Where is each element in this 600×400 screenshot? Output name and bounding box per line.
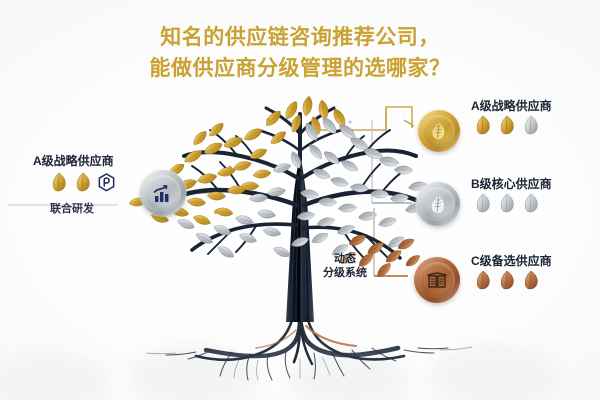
- leaf-icon-gold: [474, 115, 492, 136]
- leaf-icon-bronze: [474, 270, 492, 291]
- leaf-emblem-icon: [428, 120, 450, 142]
- left-panel-title: A级战略供应商: [33, 152, 114, 169]
- leaf-icon-silver: [498, 193, 516, 214]
- page-title: 知名的供应链咨询推荐公司， 能做供应商分级管理的选哪家？: [0, 22, 600, 84]
- leaf-icon-silver: [522, 115, 540, 136]
- infographic-canvas: 知名的供应链咨询推荐公司， 能做供应商分级管理的选哪家？: [0, 0, 600, 400]
- tier-a-leaf-row: [474, 115, 540, 136]
- leaf-icon-bronze: [498, 270, 516, 291]
- leaf-icon-bronze: [522, 270, 540, 291]
- tier-c-label: C级备选供应商: [471, 252, 552, 269]
- leaf-icon-gold: [50, 172, 68, 193]
- leaf-icon-gold: [74, 172, 92, 193]
- hexagon-swirl-icon: [98, 173, 115, 192]
- title-line-1: 知名的供应链咨询推荐公司，: [0, 22, 600, 53]
- growth-chart-icon: [151, 181, 175, 205]
- left-panel-subtitle: 联合研发: [50, 200, 94, 216]
- tier-b-label: B级核心供应商: [471, 175, 552, 192]
- ledger-book-icon: [425, 268, 449, 292]
- tier-c-leaf-row: [474, 270, 540, 291]
- leaf-emblem-icon: [427, 193, 450, 216]
- center-node-label: 动态 分级系统: [300, 252, 390, 280]
- tier-b-leaf-row: [474, 193, 540, 214]
- leaf-icon-silver: [522, 193, 540, 214]
- leaf-icon-gold: [498, 115, 516, 136]
- tier-a-medal[interactable]: [418, 110, 460, 152]
- tree-roots: [146, 318, 472, 380]
- leaf-icon-silver: [474, 193, 492, 214]
- title-line-2: 能做供应商分级管理的选哪家？: [0, 53, 600, 84]
- tier-a-label: A级战略供应商: [471, 97, 552, 114]
- center-node-line-2: 分级系统: [300, 266, 390, 280]
- left-panel-medal-growth[interactable]: [140, 170, 186, 216]
- center-node-line-1: 动态: [300, 252, 390, 266]
- tier-c-medal[interactable]: [414, 257, 460, 303]
- left-panel-leaf-row: [50, 172, 115, 193]
- tier-b-medal[interactable]: [416, 182, 460, 226]
